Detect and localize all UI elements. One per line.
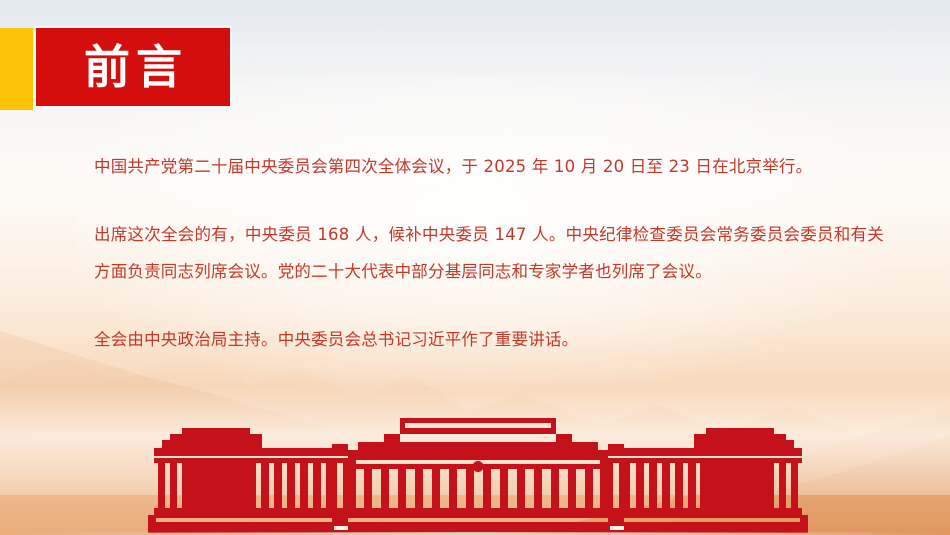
great-hall-of-the-people-icon <box>148 418 808 533</box>
body-copy: 中国共产党第二十届中央委员会第四次全体会议，于 2025 年 10 月 20 日… <box>94 148 884 358</box>
title-accent-bar <box>0 28 33 110</box>
page-title: 前言 <box>78 44 188 90</box>
slide-root: 前言 中国共产党第二十届中央委员会第四次全体会议，于 2025 年 10 月 2… <box>0 0 950 535</box>
paragraph-3: 全会由中央政治局主持。中央委员会总书记习近平作了重要讲话。 <box>94 321 884 358</box>
title-badge: 前言 <box>36 28 230 106</box>
paragraph-1: 中国共产党第二十届中央委员会第四次全体会议，于 2025 年 10 月 20 日… <box>94 148 884 185</box>
paragraph-2: 出席这次全会的有，中央委员 168 人，候补中央委员 147 人。中央纪律检查委… <box>94 216 884 290</box>
